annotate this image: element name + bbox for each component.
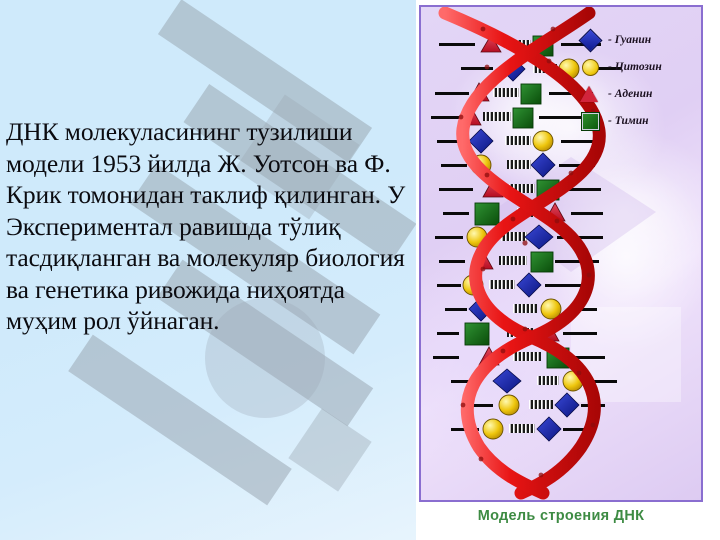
text-pane: ДНК молекуласининг тузилиши модели 1953 …	[0, 0, 416, 540]
watermark-shape	[288, 408, 371, 491]
legend-label-guanine: - Гуанин	[608, 34, 651, 46]
green-square-icon	[576, 109, 602, 133]
legend: - Гуанин - Цитозин - Аденин - Тимин	[576, 26, 698, 134]
yellow-circle-icon	[576, 55, 602, 79]
legend-item-adenine: - Аденин	[576, 80, 698, 107]
legend-label-adenine: - Аденин	[608, 88, 652, 100]
dna-illustration-panel: - Гуанин - Цитозин - Аденин - Тимин	[419, 5, 703, 502]
legend-label-thymine: - Тимин	[608, 115, 649, 127]
blue-diamond-icon	[576, 28, 602, 52]
legend-item-thymine: - Тимин	[576, 107, 698, 134]
illustration-caption: Модель строения ДНК	[419, 508, 703, 524]
red-triangle-icon	[576, 82, 602, 106]
slide: ДНК молекуласининг тузилиши модели 1953 …	[0, 0, 720, 540]
legend-item-guanine: - Гуанин	[576, 26, 698, 53]
legend-label-cytosine: - Цитозин	[608, 61, 662, 73]
body-text: ДНК молекуласининг тузилиши модели 1953 …	[6, 116, 414, 337]
legend-item-cytosine: - Цитозин	[576, 53, 698, 80]
